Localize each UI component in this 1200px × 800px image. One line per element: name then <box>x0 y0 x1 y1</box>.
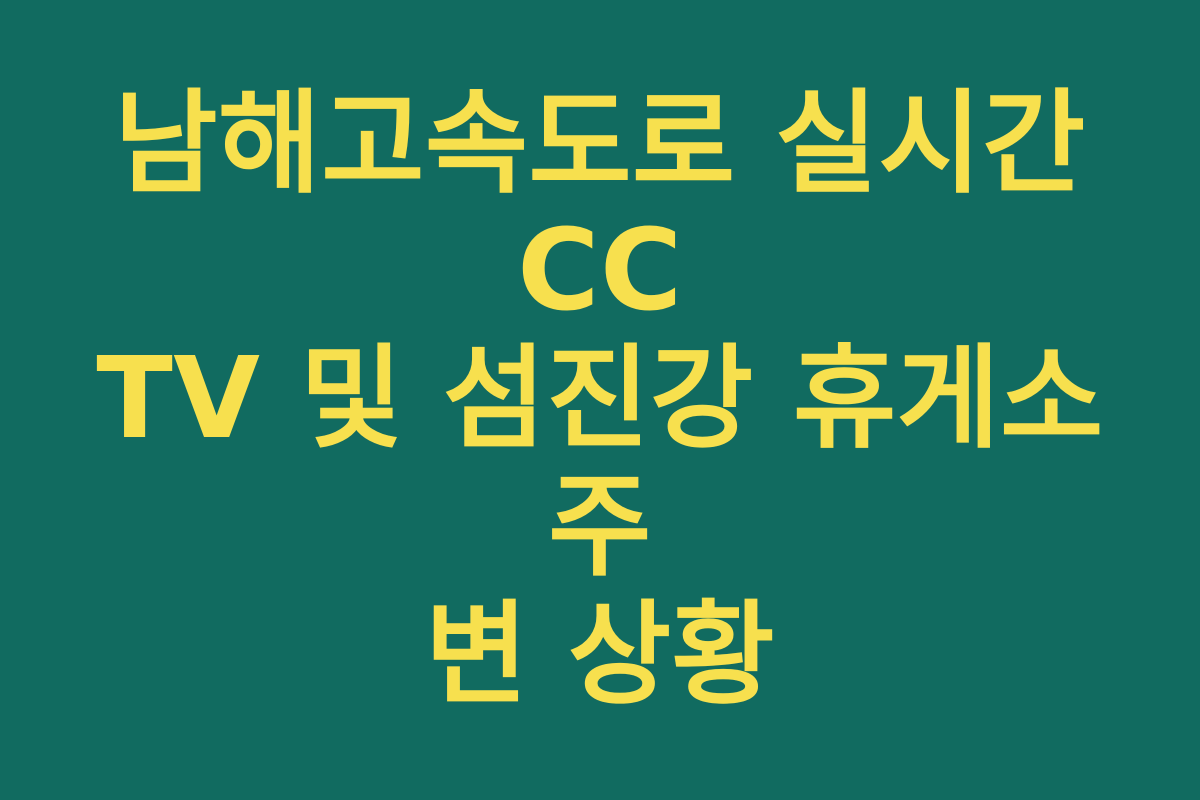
thumbnail-card: 남해고속도로 실시간 CC TV 및 섬진강 휴게소 주 변 상황 <box>0 0 1200 800</box>
headline-block: 남해고속도로 실시간 CC TV 및 섬진강 휴게소 주 변 상황 <box>70 81 1130 719</box>
page-title: 남해고속도로 실시간 CC TV 및 섬진강 휴게소 주 변 상황 <box>70 81 1130 719</box>
